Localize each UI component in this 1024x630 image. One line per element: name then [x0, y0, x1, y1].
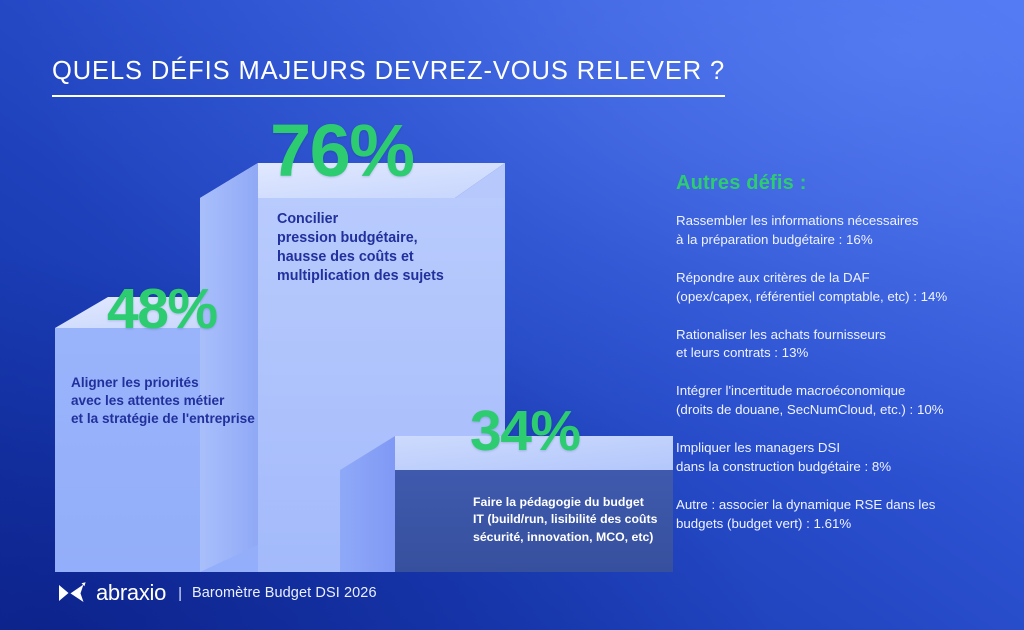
other-challenge-item: Autre : associer la dynamique RSE dans l… — [676, 496, 1006, 534]
abraxio-logo-icon — [57, 581, 87, 605]
bar-34-label: Faire la pédagogie du budget IT (build/r… — [473, 494, 688, 546]
footer-separator: | — [178, 585, 182, 602]
bar-76-value-label: 76% — [270, 114, 414, 188]
other-challenge-item: Rationaliser les achats fournisseurs et … — [676, 326, 1006, 364]
other-challenge-item: Rassembler les informations nécessaires … — [676, 212, 1006, 250]
footer: abraxio | Baromètre Budget DSI 2026 — [57, 580, 377, 606]
other-challenges-title: Autres défis : — [676, 172, 1006, 195]
other-challenges-panel: Autres défis : Rassembler les informatio… — [676, 172, 1006, 534]
other-challenge-item: Impliquer les managers DSI dans la const… — [676, 439, 1006, 477]
bar-76-left-face — [200, 163, 258, 572]
bar-76-label: Concilier pression budgétaire, hausse de… — [277, 210, 502, 285]
infographic-slide: QUELS DÉFIS MAJEURS DEVREZ-VOUS RELEVER … — [0, 0, 1024, 630]
footer-caption: Baromètre Budget DSI 2026 — [192, 585, 377, 601]
bar-34-value-label: 34% — [470, 403, 580, 460]
other-challenge-item: Répondre aux critères de la DAF (opex/ca… — [676, 269, 1006, 307]
brand-name: abraxio — [96, 580, 166, 606]
bar-48-label: Aligner les priorités avec les attentes … — [71, 374, 306, 428]
page-title: QUELS DÉFIS MAJEURS DEVREZ-VOUS RELEVER … — [52, 57, 725, 97]
other-challenge-item: Intégrer l'incertitude macroéconomique (… — [676, 382, 1006, 420]
bar-48-value-label: 48% — [107, 281, 217, 338]
